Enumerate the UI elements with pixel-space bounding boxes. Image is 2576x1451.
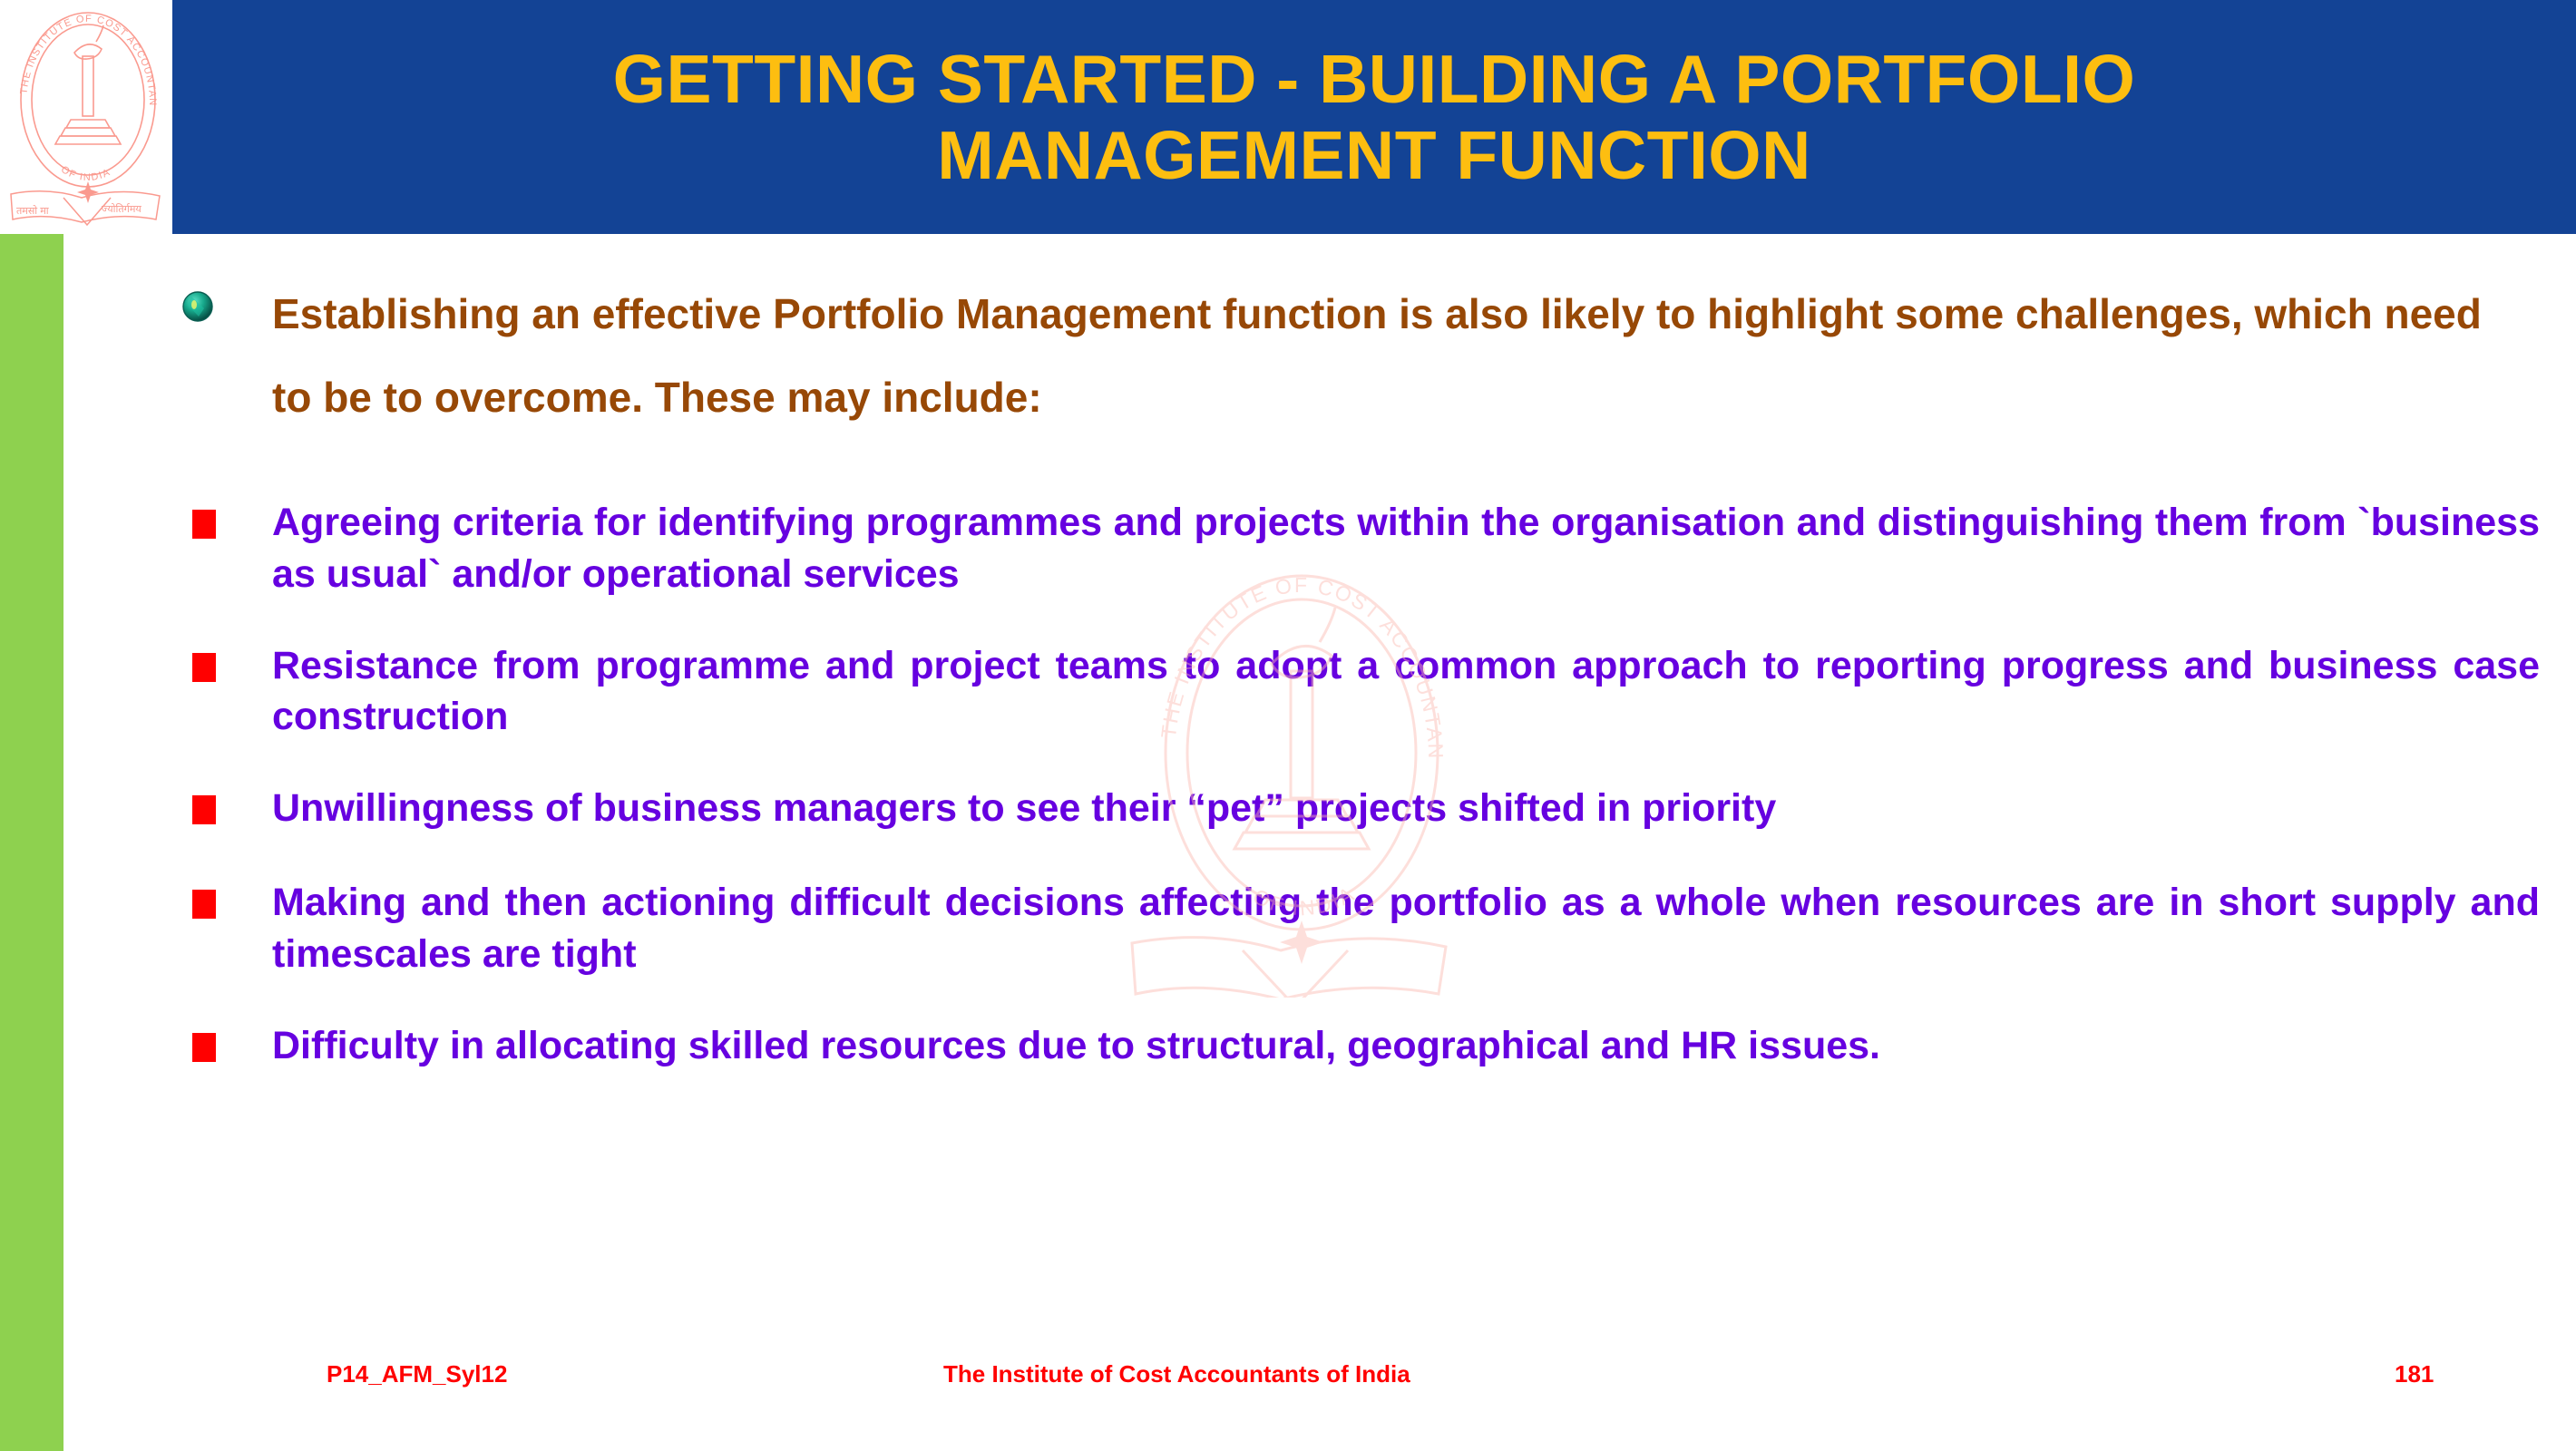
red-square-bullet-icon: [192, 890, 216, 919]
gem-bullet-icon: [180, 288, 216, 325]
intro-paragraph-block: Establishing an effective Portfolio Mana…: [172, 272, 2531, 439]
list-item: Resistance from programme and project te…: [172, 640, 2540, 744]
list-item: Unwillingness of business managers to se…: [172, 783, 2540, 837]
list-item-text: Resistance from programme and project te…: [272, 640, 2540, 744]
red-square-bullet-icon: [192, 1033, 216, 1062]
red-square-bullet-icon: [192, 510, 216, 539]
footer-institute-name: The Institute of Cost Accountants of Ind…: [943, 1360, 1410, 1388]
footer-page-number: 181: [2395, 1360, 2434, 1388]
intro-paragraph-text: Establishing an effective Portfolio Mana…: [272, 272, 2531, 439]
svg-text:तमसो मा: तमसो मा: [16, 205, 49, 217]
red-square-bullet-icon: [192, 653, 216, 682]
slide-root: GETTING STARTED - BUILDING A PORTFOLIO M…: [0, 0, 2576, 1451]
slide-title-line-1: GETTING STARTED - BUILDING A PORTFOLIO: [613, 41, 2136, 117]
list-item: Difficulty in allocating skilled resourc…: [172, 1020, 2540, 1075]
svg-text:OF INDIA: OF INDIA: [59, 164, 112, 183]
list-item: Agreeing criteria for identifying progra…: [172, 497, 2540, 600]
institute-seal-icon: THE INSTITUTE OF COST ACCOUNTANTS OF IND…: [7, 2, 169, 229]
list-item-text: Agreeing criteria for identifying progra…: [272, 497, 2540, 600]
red-square-bullet-icon: [192, 795, 216, 824]
list-item-text: Unwillingness of business managers to se…: [272, 783, 2540, 834]
slide-body: Establishing an effective Portfolio Mana…: [0, 234, 2576, 1451]
svg-text:ज्योतिर्गमय: ज्योतिर्गमय: [102, 203, 141, 215]
list-item: Making and then actioning difficult deci…: [172, 877, 2540, 980]
slide-title-line-2: MANAGEMENT FUNCTION: [937, 117, 1811, 193]
list-item-text: Difficulty in allocating skilled resourc…: [272, 1020, 2540, 1072]
slide-footer: P14_AFM_Syl12 The Institute of Cost Acco…: [0, 1360, 2576, 1415]
bullet-list: Agreeing criteria for identifying progra…: [172, 497, 2540, 1115]
title-banner: GETTING STARTED - BUILDING A PORTFOLIO M…: [172, 0, 2576, 234]
footer-course-code: P14_AFM_Syl12: [327, 1360, 507, 1388]
list-item-text: Making and then actioning difficult deci…: [272, 877, 2540, 980]
